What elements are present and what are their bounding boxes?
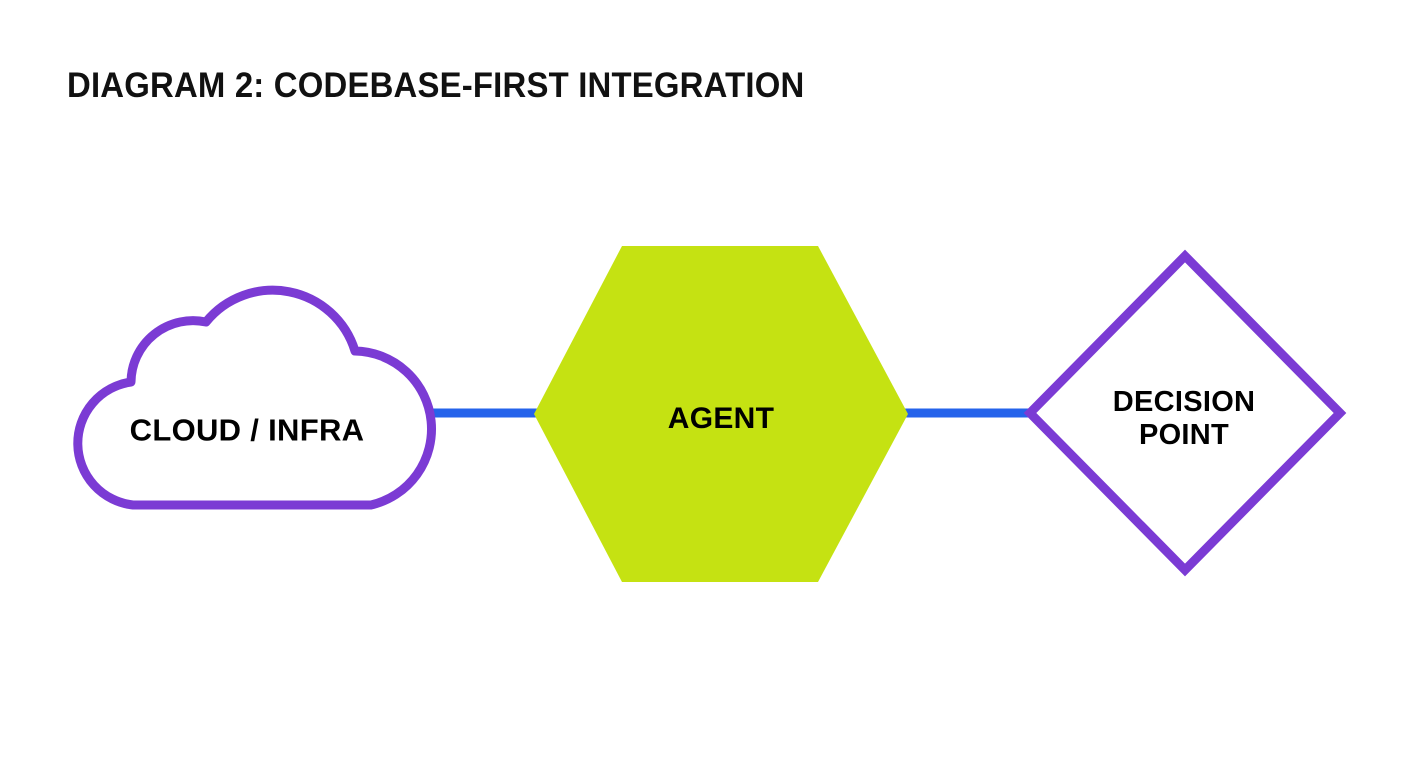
node-hitarea-cloud-infra[interactable] (72, 288, 427, 512)
edge-hitarea-agent-to-decision[interactable] (904, 400, 1034, 426)
node-hitarea-decision-point[interactable] (1029, 256, 1341, 571)
node-hitarea-agent[interactable] (534, 246, 908, 583)
edge-hitarea-cloud-to-agent[interactable] (420, 400, 542, 426)
diagram-stage: CLOUD / INFRA AGENT DECISION POINT (0, 0, 1408, 768)
diagram-canvas: DIAGRAM 2: CODEBASE-FIRST INTEGRATION CL… (0, 0, 1408, 768)
